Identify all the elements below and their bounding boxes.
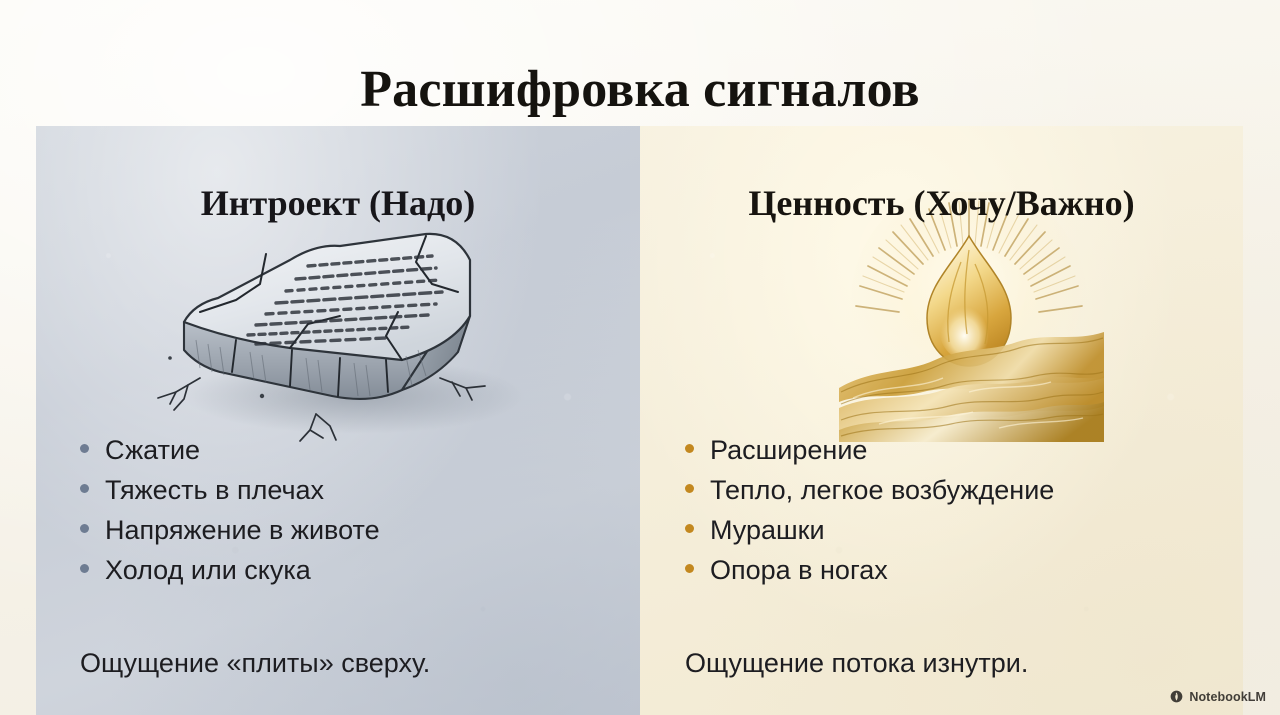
- list-item: Тяжесть в плечах: [80, 470, 380, 510]
- list-item: Мурашки: [685, 510, 1054, 550]
- list-item: Тепло, легкое возбуждение: [685, 470, 1054, 510]
- bullet-dot-icon: [685, 524, 694, 533]
- notebooklm-spiral-icon: [1169, 689, 1184, 704]
- bullet-dot-icon: [685, 564, 694, 573]
- panel-value: Ценность (Хочу/Важно): [640, 126, 1243, 715]
- bullet-dot-icon: [685, 484, 694, 493]
- panel-introject-heading: Интроект (Надо): [36, 182, 640, 224]
- list-item: Напряжение в животе: [80, 510, 380, 550]
- list-item-label: Мурашки: [710, 510, 825, 550]
- notebooklm-watermark-label: NotebookLM: [1189, 690, 1266, 704]
- list-item-label: Опора в ногах: [710, 550, 888, 590]
- bullet-dot-icon: [685, 444, 694, 453]
- list-item: Расширение: [685, 430, 1054, 470]
- comparison-panels: Интроект (Надо): [36, 126, 1243, 715]
- list-item-label: Сжатие: [105, 430, 200, 470]
- cracked-stone-tablet-icon: [140, 200, 540, 450]
- bullet-dot-icon: [80, 524, 89, 533]
- bullet-dot-icon: [80, 484, 89, 493]
- bullet-dot-icon: [80, 564, 89, 573]
- list-item: Опора в ногах: [685, 550, 1054, 590]
- list-item-label: Тяжесть в плечах: [105, 470, 324, 510]
- list-item-label: Напряжение в животе: [105, 510, 380, 550]
- bullet-dot-icon: [80, 444, 89, 453]
- notebooklm-watermark: NotebookLM: [1169, 689, 1266, 704]
- list-item: Холод или скука: [80, 550, 380, 590]
- value-bullet-list: Расширение Тепло, легкое возбуждение Мур…: [685, 430, 1054, 590]
- value-summary: Ощущение потока изнутри.: [685, 648, 1028, 679]
- list-item: Сжатие: [80, 430, 380, 470]
- panel-introject: Интроект (Надо): [36, 126, 640, 715]
- introject-bullet-list: Сжатие Тяжесть в плечах Напряжение в жив…: [80, 430, 380, 590]
- panel-value-heading: Ценность (Хочу/Важно): [640, 182, 1243, 224]
- golden-flame-icon: [839, 192, 1104, 442]
- page-title: Расшифровка сигналов: [0, 61, 1280, 118]
- list-item-label: Расширение: [710, 430, 867, 470]
- list-item-label: Холод или скука: [105, 550, 311, 590]
- introject-summary: Ощущение «плиты» сверху.: [80, 648, 430, 679]
- list-item-label: Тепло, легкое возбуждение: [710, 470, 1054, 510]
